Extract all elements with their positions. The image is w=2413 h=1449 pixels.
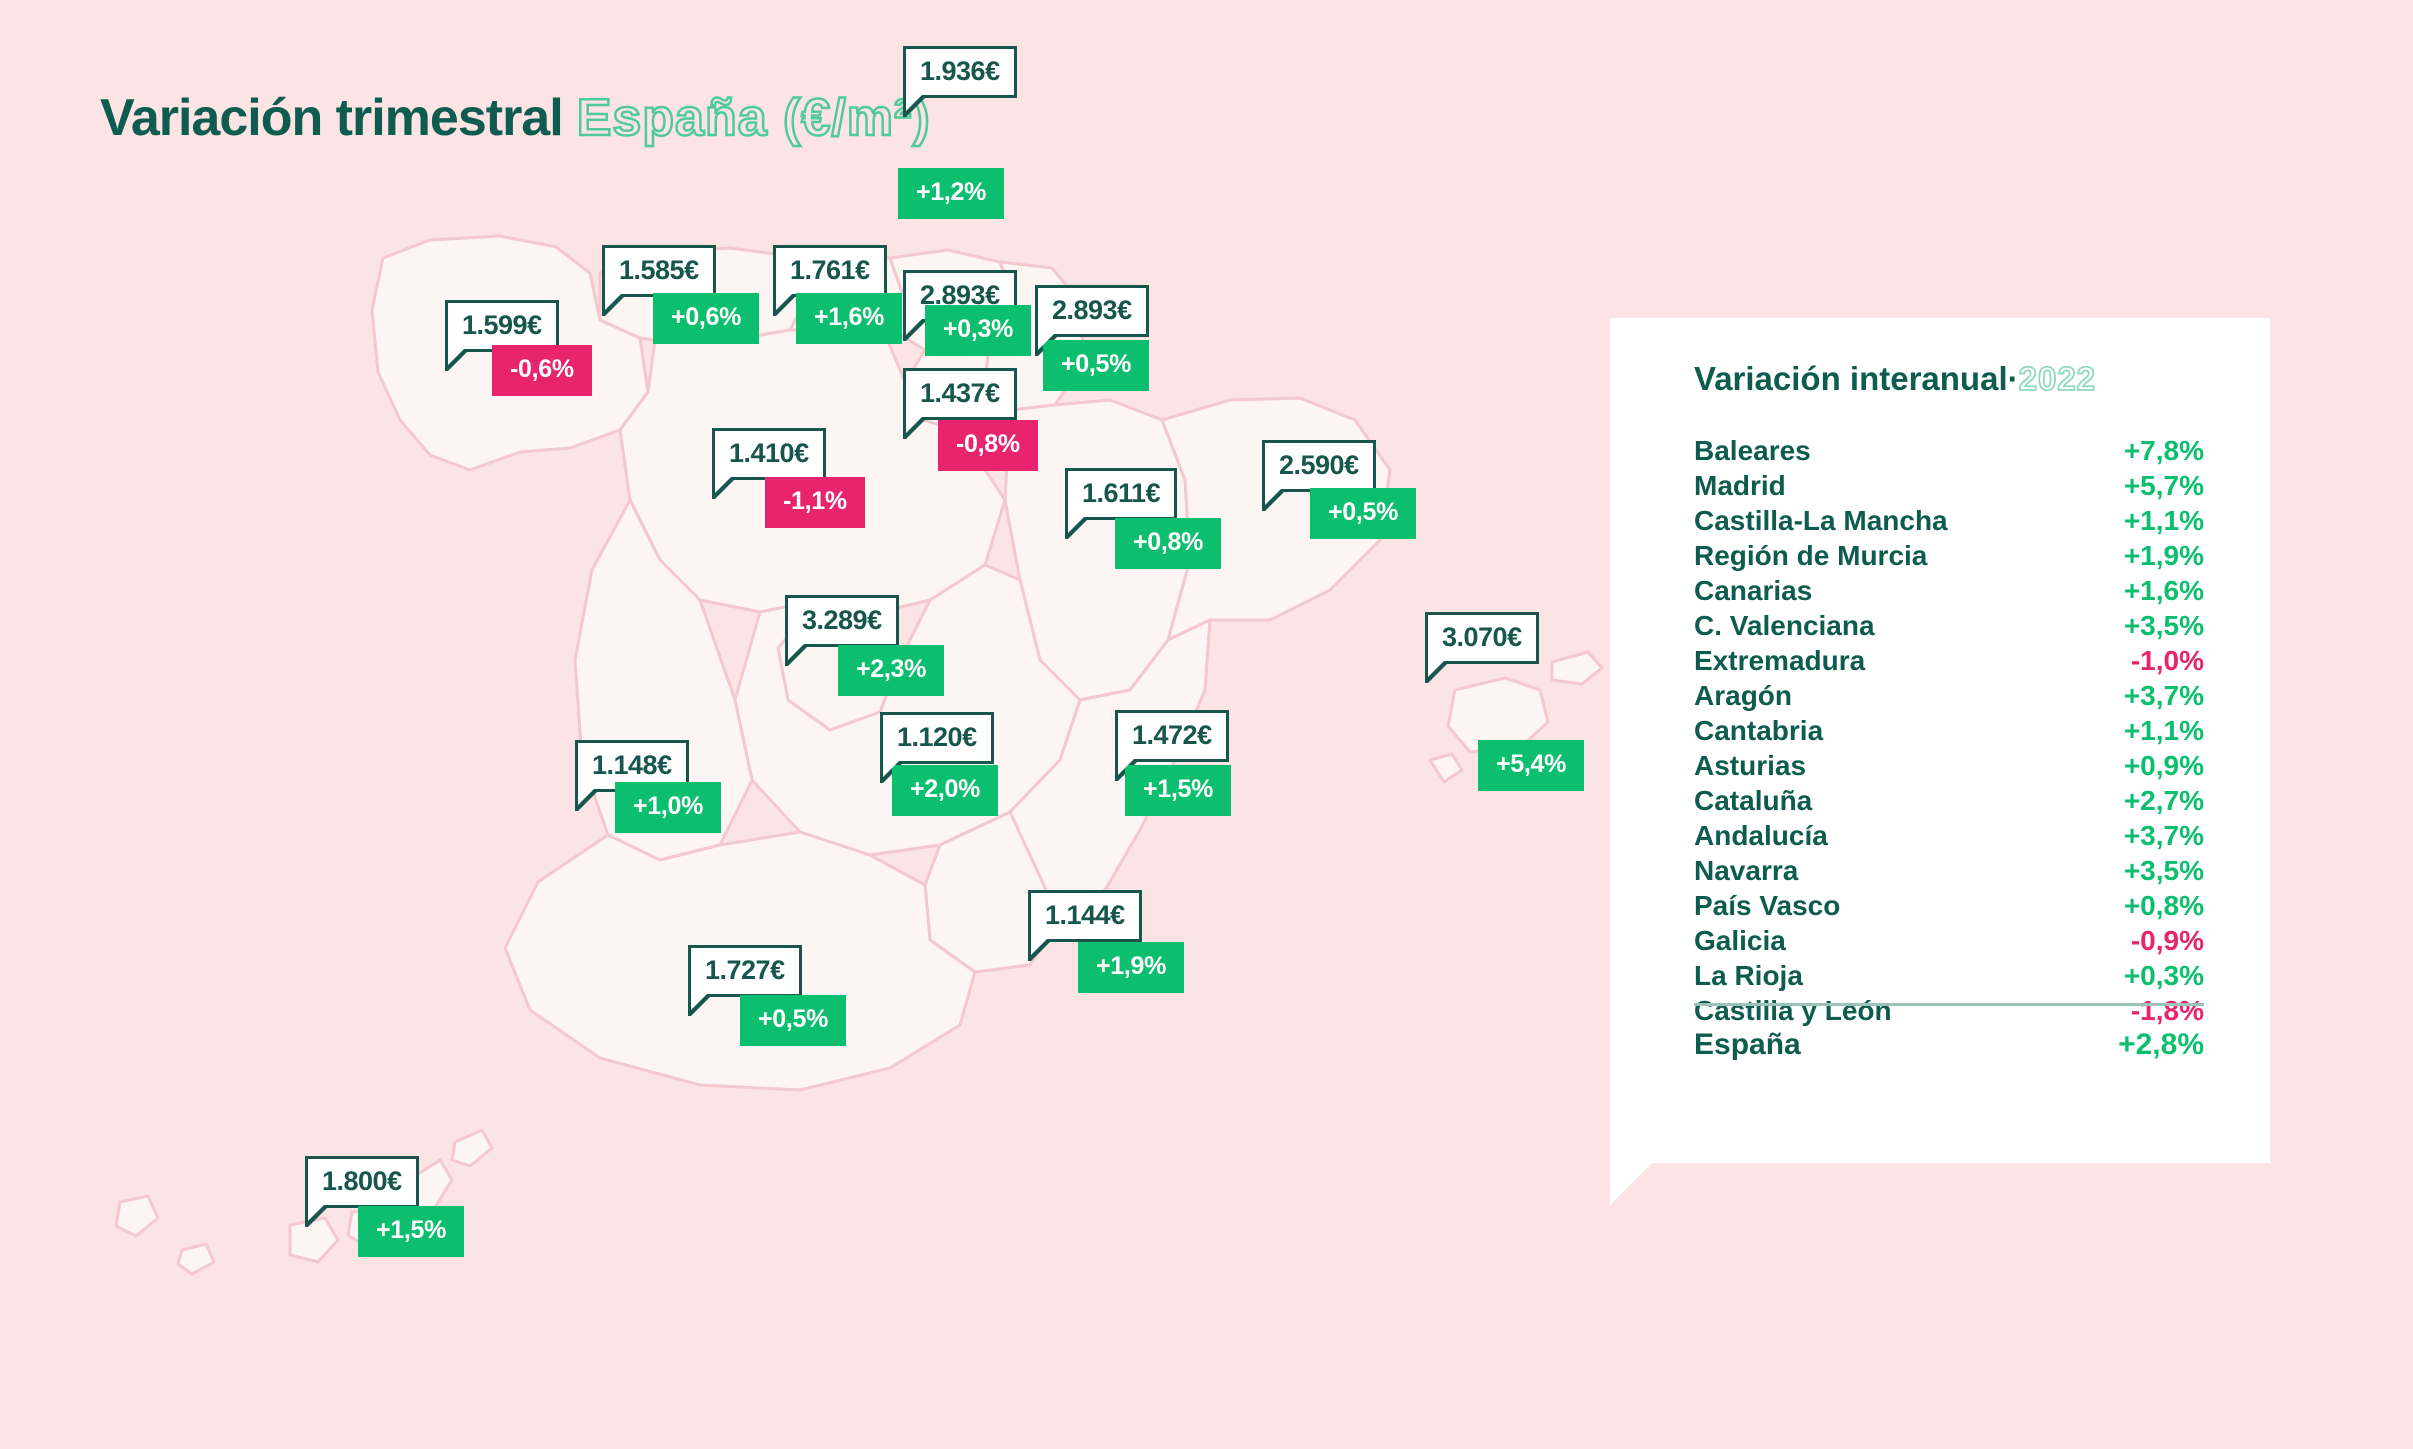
legend-row-name: Región de Murcia bbox=[1694, 538, 1927, 573]
percent-tag: +0,6% bbox=[653, 293, 759, 344]
legend-row: Aragón+3,7% bbox=[1694, 678, 2204, 713]
legend-row: País Vasco+0,8% bbox=[1694, 888, 2204, 923]
legend-row-name: Canarias bbox=[1694, 573, 1812, 608]
legend-row-value: +0,9% bbox=[2124, 748, 2204, 783]
legend-row-name: Galicia bbox=[1694, 923, 1786, 958]
price-callout: 1.936€ bbox=[903, 46, 1017, 98]
percent-tag: +0,8% bbox=[1115, 518, 1221, 569]
price-callout: 1.800€ bbox=[305, 1156, 419, 1208]
legend-title-main: Variación interanual· bbox=[1694, 360, 2019, 398]
legend-row: Andalucía+3,7% bbox=[1694, 818, 2204, 853]
legend-row-value: +2,7% bbox=[2124, 783, 2204, 818]
percent-tag: -0,8% bbox=[938, 420, 1038, 471]
legend-row-value: +5,7% bbox=[2124, 468, 2204, 503]
price-callout: 2.590€ bbox=[1262, 440, 1376, 492]
legend-row-value: +0,8% bbox=[2124, 888, 2204, 923]
price-callout: 1.120€ bbox=[880, 712, 994, 764]
percent-tag: +2,0% bbox=[892, 765, 998, 816]
legend-row-value: +7,8% bbox=[2124, 433, 2204, 468]
legend-row: Baleares+7,8% bbox=[1694, 433, 2204, 468]
percent-tag: -0,6% bbox=[492, 345, 592, 396]
percent-tag: +1,5% bbox=[1125, 765, 1231, 816]
legend-rows: Baleares+7,8%Madrid+5,7%Castilla-La Manc… bbox=[1694, 433, 2204, 1028]
price-callout: 3.289€ bbox=[785, 595, 899, 647]
price-callout: 1.761€ bbox=[773, 245, 887, 297]
legend-panel: Variación interanual· 2022 Baleares+7,8%… bbox=[1610, 318, 2270, 1163]
legend-row-name: C. Valenciana bbox=[1694, 608, 1875, 643]
legend-row: Cantabria+1,1% bbox=[1694, 713, 2204, 748]
legend-row: Navarra+3,5% bbox=[1694, 853, 2204, 888]
region-baleares-menorca bbox=[1552, 652, 1602, 684]
price-callout: 1.585€ bbox=[602, 245, 716, 297]
legend-total-value: +2,8% bbox=[2118, 1028, 2204, 1062]
legend-row: Castilla y León-1,8% bbox=[1694, 993, 2204, 1028]
percent-tag: +0,3% bbox=[925, 305, 1031, 356]
legend-row: Región de Murcia+1,9% bbox=[1694, 538, 2204, 573]
legend-row-name: Castilla y León bbox=[1694, 993, 1892, 1028]
price-callout: 1.410€ bbox=[712, 428, 826, 480]
legend-row-value: +1,9% bbox=[2124, 538, 2204, 573]
legend-divider bbox=[1694, 1003, 2204, 1006]
legend-row-name: La Rioja bbox=[1694, 958, 1803, 993]
percent-tag: +1,2% bbox=[898, 168, 1004, 219]
legend-row-value: +3,5% bbox=[2124, 853, 2204, 888]
legend-row-name: Asturias bbox=[1694, 748, 1806, 783]
price-callout: 1.144€ bbox=[1028, 890, 1142, 942]
percent-tag: +1,6% bbox=[796, 293, 902, 344]
legend-row-name: Cantabria bbox=[1694, 713, 1823, 748]
percent-tag: +1,5% bbox=[358, 1206, 464, 1257]
legend-row-name: País Vasco bbox=[1694, 888, 1840, 923]
legend-row: Castilla-La Mancha+1,1% bbox=[1694, 503, 2204, 538]
percent-tag: +1,0% bbox=[615, 782, 721, 833]
price-callout: 3.070€ bbox=[1425, 612, 1539, 664]
region-canarias-gomera bbox=[178, 1244, 214, 1274]
legend-row-name: Baleares bbox=[1694, 433, 1811, 468]
price-callout: 1.727€ bbox=[688, 945, 802, 997]
legend-total-row: España +2,8% bbox=[1694, 1028, 2204, 1062]
legend-row-name: Cataluña bbox=[1694, 783, 1812, 818]
legend-title: Variación interanual· 2022 bbox=[1694, 360, 2096, 398]
legend-row: Galicia-0,9% bbox=[1694, 923, 2204, 958]
legend-row-value: -1,8% bbox=[2131, 993, 2204, 1028]
legend-row-value: -1,0% bbox=[2131, 643, 2204, 678]
percent-tag: -1,1% bbox=[765, 477, 865, 528]
price-callout: 2.893€ bbox=[1035, 285, 1149, 337]
region-baleares-ibiza bbox=[1430, 754, 1462, 782]
legend-row: La Rioja+0,3% bbox=[1694, 958, 2204, 993]
legend-row: Madrid+5,7% bbox=[1694, 468, 2204, 503]
region-canarias-lapalma bbox=[116, 1196, 158, 1236]
legend-row: C. Valenciana+3,5% bbox=[1694, 608, 2204, 643]
legend-row-value: +1,6% bbox=[2124, 573, 2204, 608]
percent-tag: +5,4% bbox=[1478, 740, 1584, 791]
legend-row-value: +1,1% bbox=[2124, 713, 2204, 748]
price-callout: 1.437€ bbox=[903, 368, 1017, 420]
region-canarias-lanzarote bbox=[452, 1130, 492, 1166]
legend-row: Cataluña+2,7% bbox=[1694, 783, 2204, 818]
legend-row-name: Madrid bbox=[1694, 468, 1786, 503]
legend-row-name: Andalucía bbox=[1694, 818, 1828, 853]
legend-row-value: +1,1% bbox=[2124, 503, 2204, 538]
legend-row-value: +0,3% bbox=[2124, 958, 2204, 993]
legend-row-name: Navarra bbox=[1694, 853, 1798, 888]
legend-row: Extremadura-1,0% bbox=[1694, 643, 2204, 678]
percent-tag: +0,5% bbox=[1310, 488, 1416, 539]
price-callout: 1.472€ bbox=[1115, 710, 1229, 762]
legend-row: Canarias+1,6% bbox=[1694, 573, 2204, 608]
percent-tag: +0,5% bbox=[740, 995, 846, 1046]
legend-total-name: España bbox=[1694, 1028, 1801, 1062]
legend-row-name: Aragón bbox=[1694, 678, 1792, 713]
legend-row-value: +3,7% bbox=[2124, 678, 2204, 713]
percent-tag: +0,5% bbox=[1043, 340, 1149, 391]
percent-tag: +1,9% bbox=[1078, 942, 1184, 993]
legend-row-name: Extremadura bbox=[1694, 643, 1865, 678]
percent-tag: +2,3% bbox=[838, 645, 944, 696]
legend-row-value: +3,5% bbox=[2124, 608, 2204, 643]
legend-row: Asturias+0,9% bbox=[1694, 748, 2204, 783]
legend-row-value: -0,9% bbox=[2131, 923, 2204, 958]
price-callout: 1.611€ bbox=[1065, 468, 1177, 520]
legend-row-name: Castilla-La Mancha bbox=[1694, 503, 1948, 538]
legend-row-value: +3,7% bbox=[2124, 818, 2204, 853]
legend-title-year: 2022 bbox=[2019, 360, 2096, 398]
